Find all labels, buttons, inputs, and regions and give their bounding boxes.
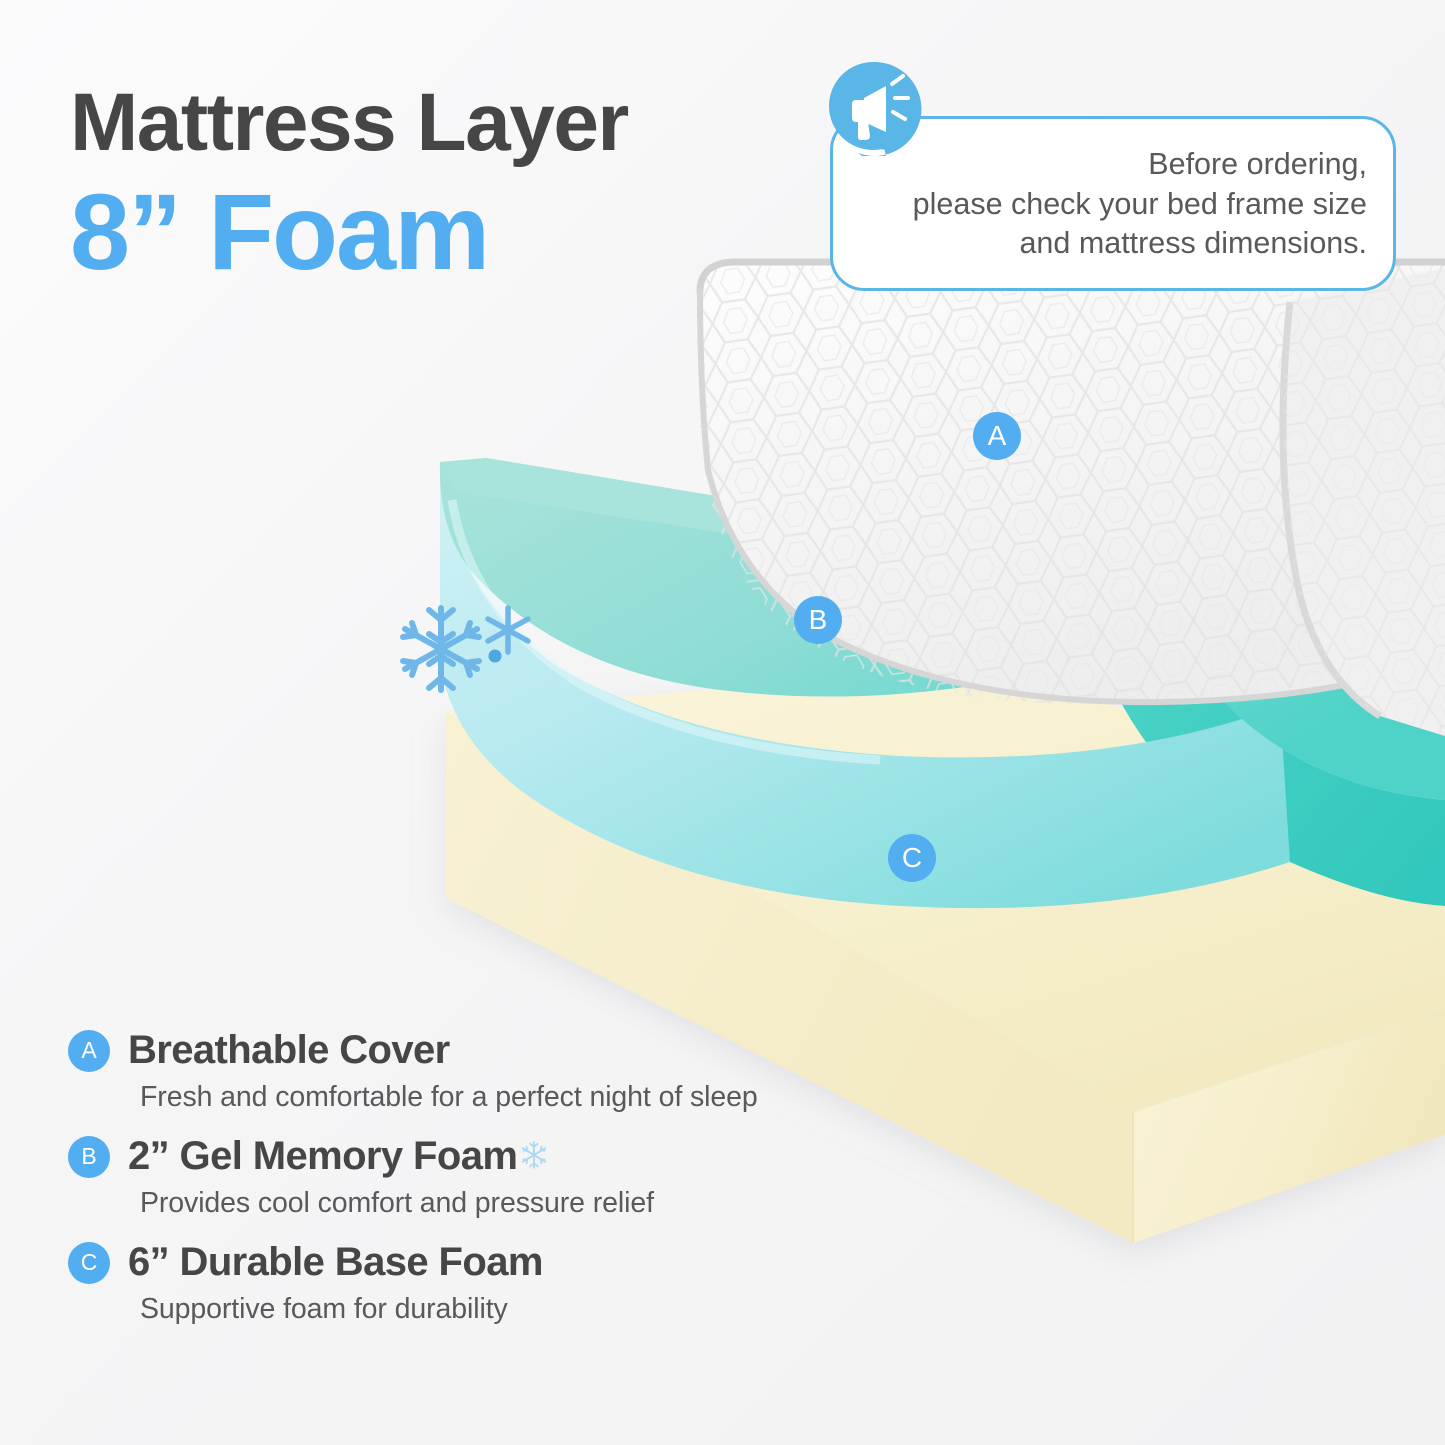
legend-badge-c: C xyxy=(68,1242,110,1284)
legend-title-c: 6” Durable Base Foam xyxy=(128,1240,543,1285)
title-line-secondary: 8” Foam xyxy=(70,178,790,286)
snow-dot-icon xyxy=(489,650,502,663)
title-line-primary: Mattress Layer xyxy=(70,82,790,164)
layer-legend: A Breathable Cover Fresh and comfortable… xyxy=(68,1028,868,1346)
notice-text: Before ordering, please check your bed f… xyxy=(859,145,1367,264)
legend-desc-c: Supportive foam for durability xyxy=(140,1293,868,1326)
legend-item-a: A Breathable Cover Fresh and comfortable… xyxy=(68,1028,868,1114)
snowflake-inline-icon xyxy=(519,1140,549,1170)
layer-b-gel-memory-foam xyxy=(439,458,1445,908)
page-title: Mattress Layer 8” Foam xyxy=(70,82,790,286)
legend-badge-a: A xyxy=(68,1030,110,1072)
infographic-page: Mattress Layer 8” Foam Before ordering, … xyxy=(0,0,1445,1445)
legend-desc-a: Fresh and comfortable for a perfect nigh… xyxy=(140,1081,868,1114)
layer-badge-c: C xyxy=(888,834,936,882)
legend-title-a: Breathable Cover xyxy=(128,1028,450,1073)
legend-desc-b: Provides cool comfort and pressure relie… xyxy=(140,1187,868,1220)
legend-item-c: C 6” Durable Base Foam Supportive foam f… xyxy=(68,1240,868,1326)
layer-a-breathable-cover xyxy=(690,250,1445,742)
megaphone-icon xyxy=(824,60,922,158)
snowflake-large-icon xyxy=(403,608,479,690)
legend-badge-b: B xyxy=(68,1136,110,1178)
snowflake-small-icon xyxy=(488,608,528,652)
legend-item-b: B 2” Gel Memory Foam xyxy=(68,1134,868,1220)
layer-badge-a: A xyxy=(973,412,1021,460)
legend-title-b: 2” Gel Memory Foam xyxy=(128,1134,517,1179)
layer-badge-b: B xyxy=(794,596,842,644)
